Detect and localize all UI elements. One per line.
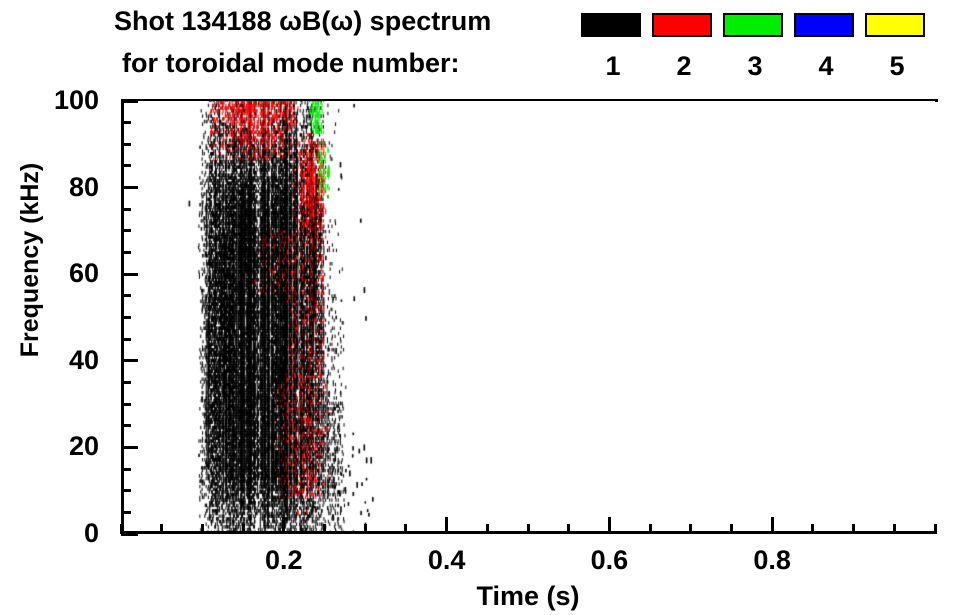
legend-swatch-2 (652, 13, 712, 37)
x-tick-0.85 (811, 524, 814, 534)
legend-swatch-1 (581, 13, 641, 37)
y-tick-100 (121, 100, 138, 103)
y-tick-85 (121, 164, 131, 167)
x-tick-0.45 (486, 524, 489, 534)
y-tick-90 (121, 143, 131, 146)
x-tick-0.05 (160, 524, 163, 534)
y-tick-45 (121, 338, 131, 341)
y-tick-10 (121, 489, 131, 492)
x-tick-0.8 (771, 517, 774, 534)
y-tick-0 (121, 533, 138, 536)
y-tick-75 (121, 208, 131, 211)
x-tick-0.7 (689, 524, 692, 534)
x-tick-0.3 (364, 524, 367, 534)
y-tick-60 (121, 273, 138, 276)
x-tick-0.6 (608, 517, 611, 534)
legend-label-4: 4 (794, 51, 858, 81)
y-tick-label-80: 80 (0, 174, 99, 201)
x-tick-0.2 (282, 517, 285, 534)
x-tick-1 (934, 524, 937, 534)
x-tick-label-0.4: 0.4 (402, 545, 492, 575)
y-tick-40 (121, 359, 138, 362)
x-tick-0.55 (567, 524, 570, 534)
legend-entry-1: 1 (581, 13, 645, 37)
x-tick-0.5 (527, 524, 530, 534)
y-tick-50 (121, 316, 131, 319)
x-tick-0.65 (649, 524, 652, 534)
x-tick-0.75 (730, 524, 733, 534)
x-tick-0 (120, 524, 123, 534)
x-tick-0.4 (445, 517, 448, 534)
figure-title-line-1: Shot 134188 ωB(ω) spectrum (114, 4, 491, 38)
legend-label-3: 3 (723, 51, 787, 81)
y-tick-70 (121, 229, 131, 232)
y-tick-label-20: 20 (0, 433, 99, 460)
y-tick-15 (121, 468, 131, 471)
legend-label-5: 5 (865, 51, 929, 81)
figure-title-line-2: for toroidal mode number: (122, 46, 460, 80)
y-tick-95 (121, 121, 131, 124)
y-tick-80 (121, 186, 138, 189)
legend-entry-5: 5 (865, 13, 929, 37)
spectrogram-figure: Shot 134188 ωB(ω) spectrum for toroidal … (0, 0, 963, 615)
y-tick-label-40: 40 (0, 347, 99, 374)
x-tick-0.9 (852, 524, 855, 534)
x-tick-label-0.8: 0.8 (727, 545, 817, 575)
y-tick-5 (121, 511, 131, 514)
legend-entry-2: 2 (652, 13, 716, 37)
spectrogram-image (124, 101, 935, 534)
y-axis-title: Frequency (kHz) (16, 130, 44, 390)
x-tick-0.1 (201, 524, 204, 534)
x-tick-0.25 (323, 524, 326, 534)
x-tick-label-0.2: 0.2 (239, 545, 329, 575)
x-tick-label-0.6: 0.6 (564, 545, 654, 575)
y-tick-label-60: 60 (0, 260, 99, 287)
legend-swatch-5 (865, 13, 925, 37)
legend-swatch-3 (723, 13, 783, 37)
legend-swatch-4 (794, 13, 854, 37)
y-tick-label-0: 0 (0, 520, 99, 547)
y-tick-25 (121, 424, 131, 427)
x-tick-0.35 (404, 524, 407, 534)
y-tick-35 (121, 381, 131, 384)
y-tick-30 (121, 403, 131, 406)
x-tick-0.15 (242, 524, 245, 534)
plot-area (121, 101, 935, 534)
legend-entry-3: 3 (723, 13, 787, 37)
y-tick-20 (121, 446, 138, 449)
legend-label-1: 1 (581, 51, 645, 81)
legend-entry-4: 4 (794, 13, 858, 37)
y-tick-65 (121, 251, 131, 254)
legend-label-2: 2 (652, 51, 716, 81)
x-tick-0.95 (893, 524, 896, 534)
x-axis-title: Time (s) (121, 581, 935, 611)
y-tick-label-100: 100 (0, 87, 99, 114)
y-tick-55 (121, 294, 131, 297)
